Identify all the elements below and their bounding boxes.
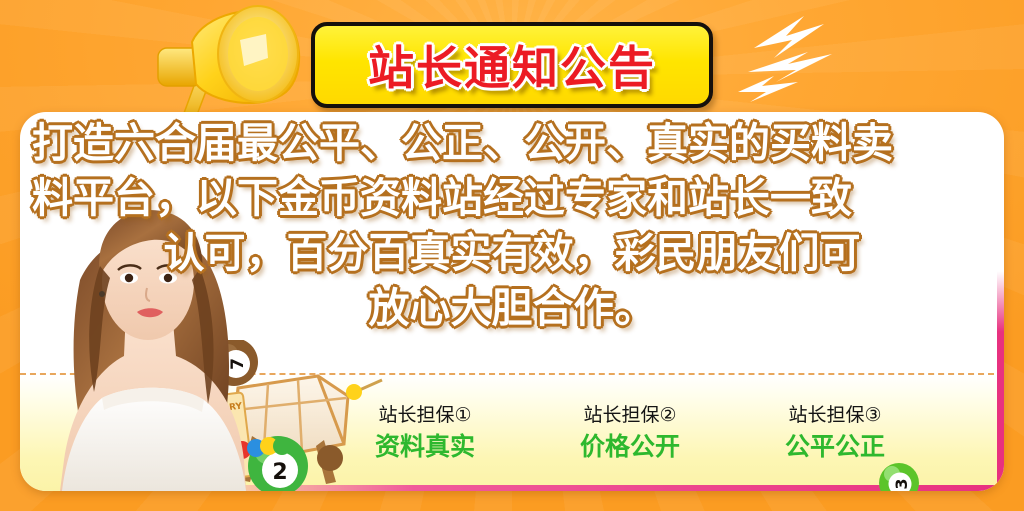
- guarantee-label-3: 站长担保③: [760, 402, 910, 428]
- guarantee-item-1: 站长担保① 资料真实: [350, 402, 500, 463]
- headline-line-3: 认可，百分百真实有效，彩民朋友们可: [32, 226, 992, 281]
- headline-line-1: 打造六合届最公平、公正、公开、真实的买料卖: [32, 116, 992, 171]
- headline-line-4: 放心大胆合作。: [32, 281, 992, 336]
- page-title: 站长通知公告: [368, 32, 656, 98]
- guarantee-value-2: 价格公开: [555, 430, 705, 463]
- guarantee-value-1: 资料真实: [350, 430, 500, 463]
- headline-line-2: 料平台，以下金币资料站经过专家和站长一致: [32, 171, 992, 226]
- content-panel: 打造六合届最公平、公正、公开、真实的买料卖 料平台，以下金币资料站经过专家和站长…: [20, 112, 1004, 491]
- svg-text:2: 2: [272, 460, 287, 485]
- lightning-bolts-icon: [726, 6, 856, 116]
- guarantee-label-2: 站长担保②: [555, 402, 705, 428]
- guarantee-item-3: 站长担保③ 公平公正: [760, 402, 910, 463]
- lottery-ball-green: 3: [878, 462, 920, 491]
- panel-right-edge: [997, 112, 1004, 491]
- title-badge: 站长通知公告: [311, 22, 713, 108]
- announcement-text: 打造六合届最公平、公正、公开、真实的买料卖 料平台，以下金币资料站经过专家和站长…: [32, 116, 992, 336]
- guarantee-label-1: 站长担保①: [350, 402, 500, 428]
- announcement-banner: 站长通知公告 打造六合届最公平、公正、公开、真实的买料卖 料平台，以下金币资料站…: [0, 0, 1024, 511]
- lottery-ball-green-number: 3: [892, 478, 911, 489]
- guarantee-item-2: 站长担保② 价格公开: [555, 402, 705, 463]
- guarantee-value-3: 公平公正: [760, 430, 910, 463]
